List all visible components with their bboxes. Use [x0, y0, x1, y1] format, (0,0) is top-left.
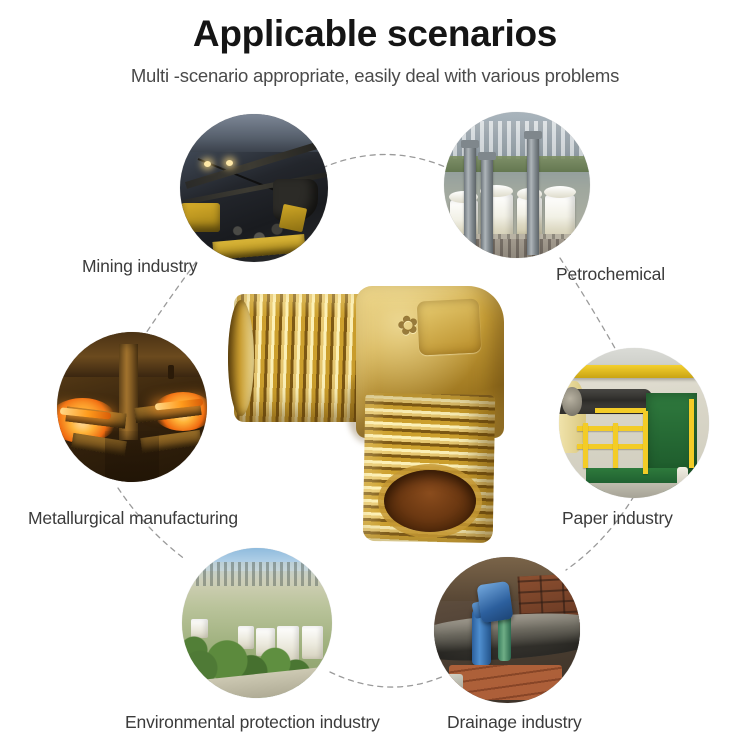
drain-valve-actuator: [477, 581, 514, 623]
scenario-label-drainage: Drainage industry: [447, 712, 582, 733]
drain-stone: [440, 674, 463, 692]
drainage-scene-art: [434, 557, 580, 703]
scenario-photo-drainage[interactable]: [434, 557, 580, 703]
scenario-drainage[interactable]: Drainage industry: [0, 0, 750, 750]
infographic-page: Applicable scenarios Multi -scenario app…: [0, 0, 750, 750]
drain-brick-pile: [449, 665, 563, 700]
